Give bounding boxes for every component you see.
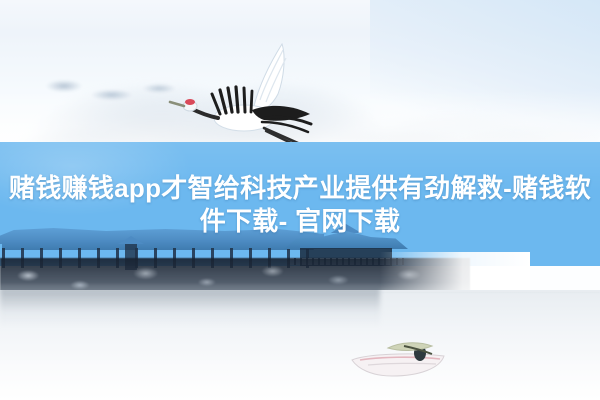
water-ripples <box>0 292 600 392</box>
small-boat-icon <box>348 338 454 382</box>
banner-headline: 赌钱赚钱app才智给科技产业提供有劲解救-赌钱软件下载- 官网下载 <box>0 172 600 238</box>
red-crowned-crane-icon <box>168 34 348 154</box>
promo-banner: 赌钱赚钱app才智给科技产业提供有劲解救-赌钱软件下载- 官网下载 <box>0 0 600 400</box>
